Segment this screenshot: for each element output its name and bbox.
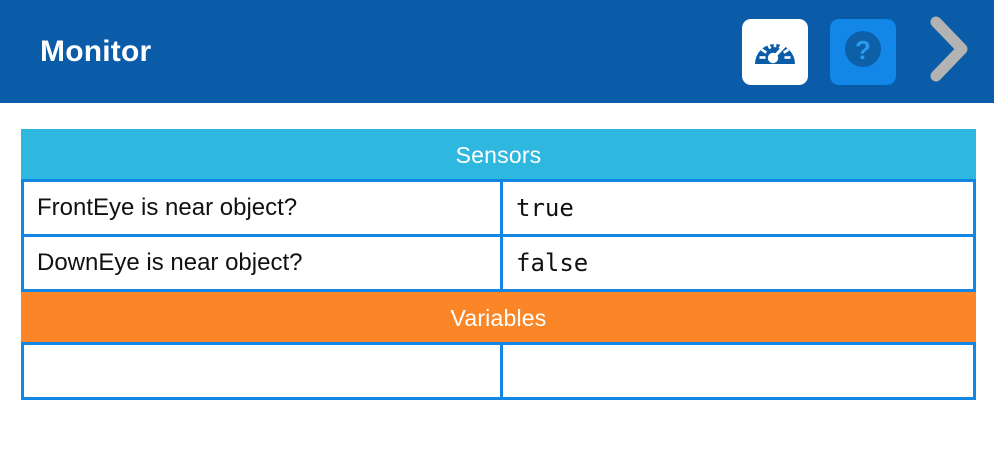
sensor-value-cell: false — [500, 234, 976, 292]
page-title: Monitor — [40, 37, 151, 67]
sensor-value-cell: true — [500, 179, 976, 237]
variable-label-cell — [21, 342, 503, 400]
monitor-gauge-button[interactable] — [742, 19, 808, 85]
sensor-label-cell: DownEye is near object? — [21, 234, 503, 292]
sensor-label-cell: FrontEye is near object? — [21, 179, 503, 237]
question-mark-icon: ? — [841, 27, 885, 76]
table-row: FrontEye is near object? true — [21, 179, 976, 237]
next-button[interactable] — [918, 10, 980, 94]
svg-text:?: ? — [855, 35, 871, 65]
help-button[interactable]: ? — [830, 19, 896, 85]
variable-value-cell — [500, 342, 976, 400]
app-bar-actions: ? — [742, 10, 994, 94]
app-bar: Monitor — [0, 0, 994, 103]
gauge-icon — [753, 32, 797, 71]
monitor-screen: Monitor — [0, 0, 994, 468]
monitor-table: Sensors FrontEye is near object? true Do… — [21, 129, 976, 400]
sensors-section-header: Sensors — [21, 129, 976, 182]
table-row: DownEye is near object? false — [21, 234, 976, 292]
table-row — [21, 342, 976, 400]
variables-section-header: Variables — [21, 292, 976, 345]
chevron-right-icon — [926, 14, 972, 89]
